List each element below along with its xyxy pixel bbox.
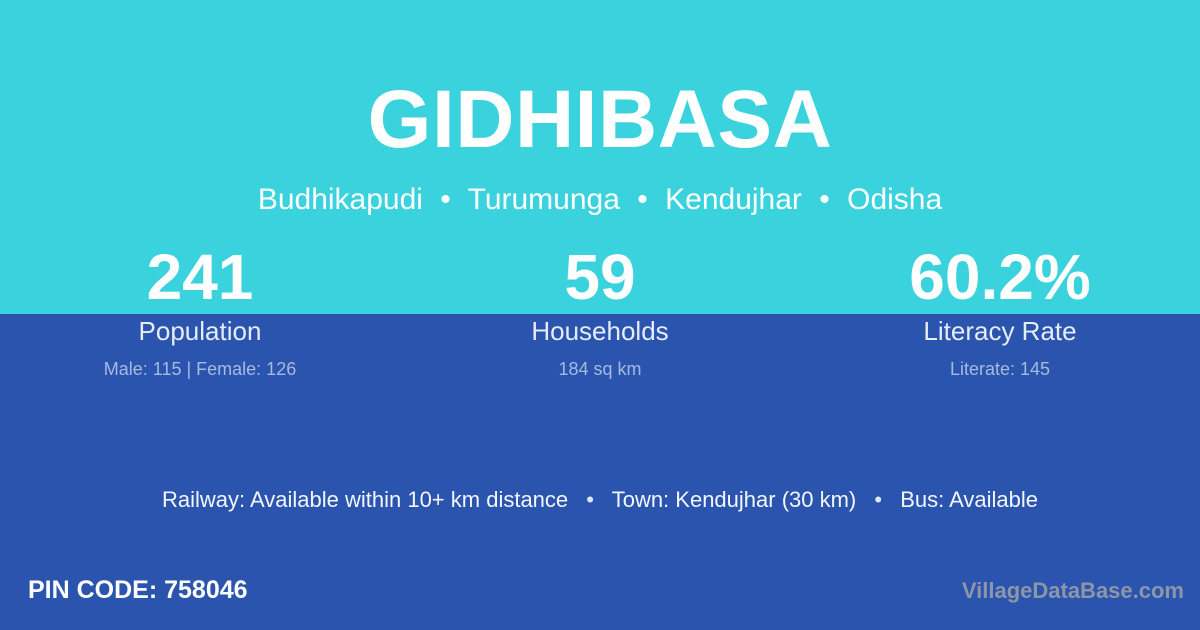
stat-population: 241 Population Male: 115 | Female: 126 bbox=[0, 243, 400, 380]
amenity-railway: Railway: Available within 10+ km distanc… bbox=[162, 487, 568, 512]
breadcrumb-item-3: Odisha bbox=[847, 183, 942, 216]
pin-code: PIN CODE: 758046 bbox=[28, 572, 248, 608]
breadcrumb-separator-icon: • bbox=[628, 183, 657, 216]
amenity-separator-icon: • bbox=[862, 487, 894, 512]
stat-label-population: Population bbox=[0, 314, 400, 346]
breadcrumb-separator-icon: • bbox=[810, 183, 839, 216]
stat-label-literacy-rate: Literacy Rate bbox=[800, 314, 1200, 346]
breadcrumb-separator-icon: • bbox=[431, 183, 460, 216]
amenity-bus: Bus: Available bbox=[900, 487, 1038, 512]
footer: PIN CODE: 758046 VillageDataBase.com bbox=[0, 572, 1200, 612]
stats-row: 241 Population Male: 115 | Female: 126 5… bbox=[0, 243, 1200, 380]
stat-households: 59 Households 184 sq km bbox=[400, 243, 800, 380]
amenities-line: Railway: Available within 10+ km distanc… bbox=[0, 486, 1200, 514]
stat-value-literacy-rate: 60.2% bbox=[800, 243, 1200, 314]
header-block: GIDHIBASA Budhikapudi • Turumunga • Kend… bbox=[0, 0, 1200, 216]
amenity-separator-icon: • bbox=[574, 487, 606, 512]
stat-value-population: 241 bbox=[0, 243, 400, 314]
village-info-card: GIDHIBASA Budhikapudi • Turumunga • Kend… bbox=[0, 0, 1200, 630]
breadcrumb: Budhikapudi • Turumunga • Kendujhar • Od… bbox=[0, 161, 1200, 216]
breadcrumb-item-0: Budhikapudi bbox=[258, 183, 423, 216]
breadcrumb-item-1: Turumunga bbox=[468, 183, 620, 216]
stat-sub-households: 184 sq km bbox=[400, 346, 800, 380]
stat-sub-literacy-rate: Literate: 145 bbox=[800, 346, 1200, 380]
stat-value-households: 59 bbox=[400, 243, 800, 314]
stat-sub-population: Male: 115 | Female: 126 bbox=[0, 346, 400, 380]
breadcrumb-item-2: Kendujhar bbox=[665, 183, 802, 216]
page-title: GIDHIBASA bbox=[0, 0, 1200, 161]
brand-watermark: VillageDataBase.com bbox=[962, 574, 1184, 608]
stat-literacy-rate: 60.2% Literacy Rate Literate: 145 bbox=[800, 243, 1200, 380]
amenity-town: Town: Kendujhar (30 km) bbox=[612, 487, 857, 512]
stat-label-households: Households bbox=[400, 314, 800, 346]
